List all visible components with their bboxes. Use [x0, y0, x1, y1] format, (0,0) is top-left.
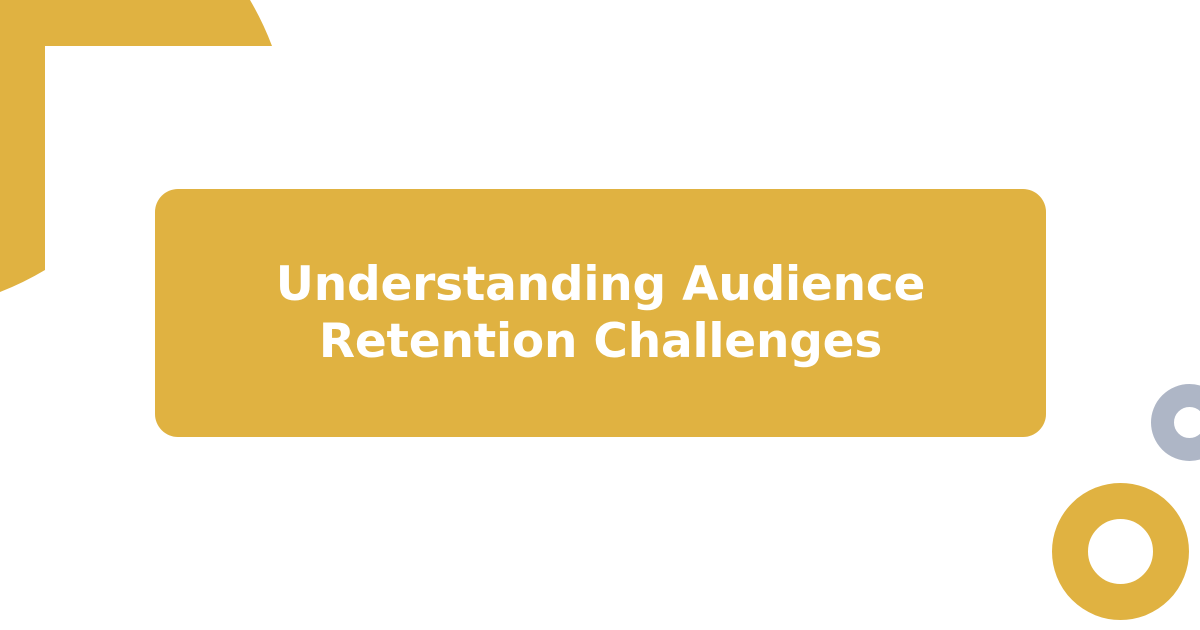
page-title: Understanding Audience Retention Challen… — [177, 256, 1024, 371]
gray-ring-icon — [1151, 384, 1200, 461]
yellow-ring-icon — [1052, 483, 1189, 620]
banner-canvas: Understanding Audience Retention Challen… — [0, 0, 1200, 630]
title-card: Understanding Audience Retention Challen… — [155, 189, 1046, 437]
